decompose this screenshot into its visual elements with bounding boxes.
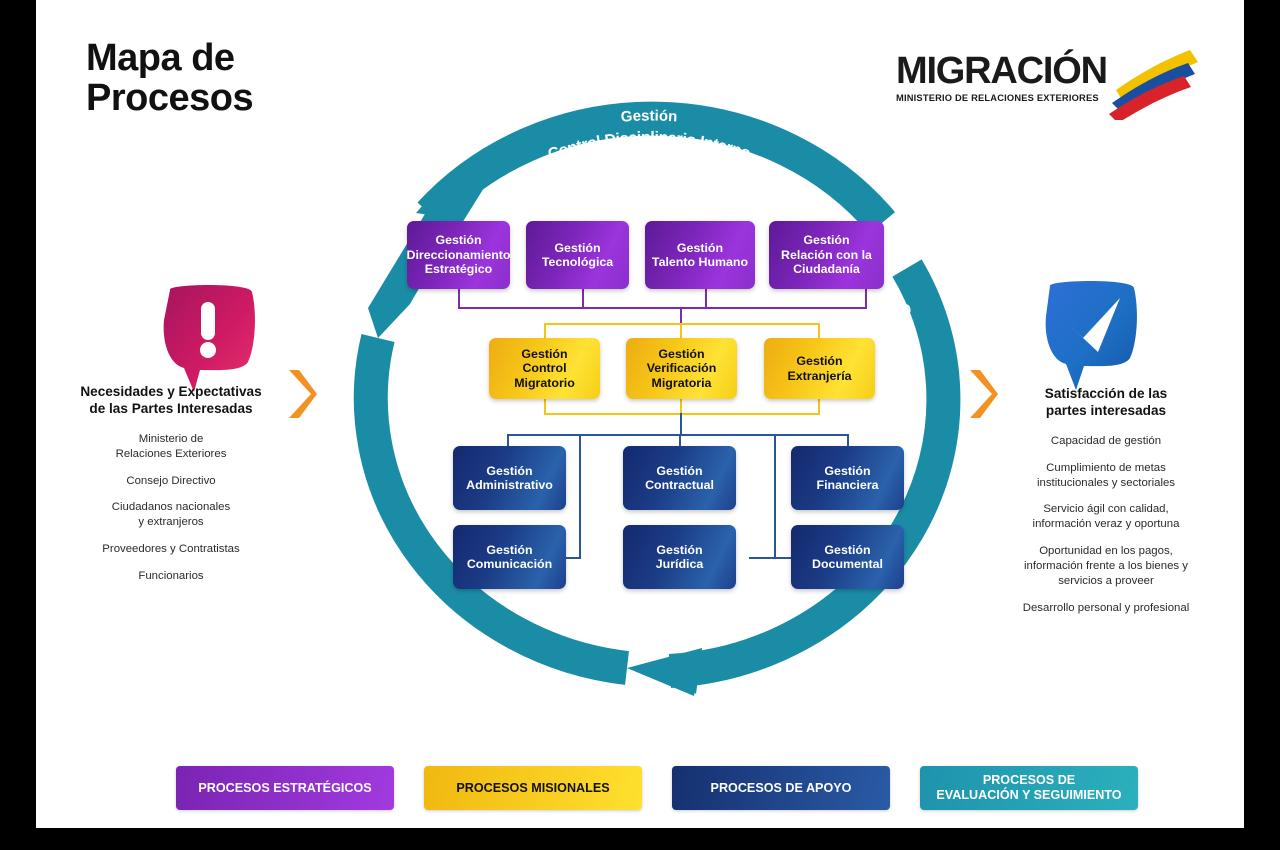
connector-support-side-right	[774, 434, 776, 558]
process-box-control-migratorio[interactable]: Gestión Control Migratorio	[489, 338, 600, 399]
connector-strategic-stem	[680, 307, 682, 324]
list-item: Ministerio de Relaciones Exteriores	[56, 432, 286, 462]
connector-support-stem	[680, 413, 682, 435]
connector-support-bus	[507, 434, 849, 436]
process-box-label: Gestión Tecnológica	[537, 241, 618, 270]
connector-support-drop-2	[679, 434, 681, 446]
connector-support-drop-3	[847, 434, 849, 446]
inputs-heading-line1: Necesidades y Expectativas	[56, 384, 286, 401]
process-box-label: Gestión Documental	[807, 543, 888, 572]
process-box-label: Gestión Extranjería	[782, 354, 856, 383]
connector-mission-out-3	[818, 398, 820, 414]
process-box-talento-humano[interactable]: Gestión Talento Humano	[645, 221, 755, 289]
process-box-juridica[interactable]: Gestión Jurídica	[623, 525, 736, 589]
outputs-list: Capacidad de gestión Cumplimiento de met…	[978, 434, 1234, 627]
outputs-heading-line2: partes interesadas	[986, 403, 1226, 420]
colombia-flag-icon	[1106, 46, 1202, 120]
process-box-label: Gestión Direccionamiento Estratégico	[402, 233, 516, 276]
list-item: Capacidad de gestión	[978, 434, 1234, 449]
process-box-label: Gestión Contractual	[640, 464, 719, 493]
svg-text:Gestión: Gestión	[620, 107, 678, 125]
legend: PROCESOS ESTRATÉGICOS PROCESOS MISIONALE…	[176, 766, 1136, 812]
inputs-heading-line2: de las Partes Interesadas	[56, 401, 286, 418]
list-item: Funcionarios	[56, 569, 286, 584]
page-title-line1: Mapa de	[86, 38, 253, 78]
legend-item-evaluacion[interactable]: PROCESOS DE EVALUACIÓN Y SEGUIMIENTO	[920, 766, 1138, 810]
list-item: Servicio ágil con calidad, información v…	[978, 502, 1234, 532]
process-box-tecnologica[interactable]: Gestión Tecnológica	[526, 221, 629, 289]
process-box-direccionamiento-estrategico[interactable]: Gestión Direccionamiento Estratégico	[407, 221, 510, 289]
legend-item-apoyo[interactable]: PROCESOS DE APOYO	[672, 766, 890, 810]
legend-item-estrategicos[interactable]: PROCESOS ESTRATÉGICOS	[176, 766, 394, 810]
connector-support-drop-1	[507, 434, 509, 446]
connector-mission-out-bus	[544, 413, 820, 415]
connector-support-link-right	[749, 557, 795, 559]
list-item: Oportunidad en los pagos, información fr…	[978, 544, 1234, 588]
outputs-heading: Satisfacción de las partes interesadas	[986, 386, 1226, 420]
exclamation-bubble-icon	[154, 280, 264, 398]
connector-strategic-bus	[458, 307, 867, 309]
list-item: Proveedores y Contratistas	[56, 542, 286, 557]
process-box-label: Gestión Comunicación	[462, 543, 557, 572]
connector-mission-out-2	[680, 398, 682, 414]
process-box-documental[interactable]: Gestión Documental	[791, 525, 904, 589]
connector-mission-drop-3	[818, 323, 820, 339]
connector-mission-bus	[544, 323, 820, 325]
list-item: Ciudadanos nacionales y extranjeros	[56, 500, 286, 530]
inputs-heading: Necesidades y Expectativas de las Partes…	[56, 384, 286, 418]
connector-strategic-drop-1	[458, 289, 460, 308]
process-box-relacion-ciudadania[interactable]: Gestión Relación con la Ciudadanía	[769, 221, 884, 289]
process-box-label: Gestión Administrativo	[461, 464, 558, 493]
svg-text:Gestión Mejora: Gestión Mejora	[411, 295, 455, 411]
process-box-label: Gestión Financiera	[812, 464, 884, 493]
page-title: Mapa de Procesos	[86, 38, 253, 119]
legend-label: PROCESOS DE EVALUACIÓN Y SEGUIMIENTO	[936, 773, 1121, 803]
connector-strategic-drop-4	[865, 289, 867, 308]
process-box-financiera[interactable]: Gestión Financiera	[791, 446, 904, 510]
ring-top-label-line1: Gestión	[620, 107, 678, 125]
connector-mission-drop-1	[544, 323, 546, 339]
process-box-label: Gestión Control Migratorio	[509, 347, 580, 390]
legend-item-misionales[interactable]: PROCESOS MISIONALES	[424, 766, 642, 810]
process-box-label: Gestión Jurídica	[651, 543, 709, 572]
process-box-label: Gestión Talento Humano	[647, 241, 753, 270]
process-box-label: Gestión Relación con la Ciudadanía	[776, 233, 877, 276]
process-box-extranjeria[interactable]: Gestión Extranjería	[764, 338, 875, 399]
legend-label: PROCESOS DE APOYO	[711, 781, 852, 796]
page-title-line2: Procesos	[86, 78, 253, 118]
legend-label: PROCESOS MISIONALES	[456, 781, 609, 796]
connector-strategic-drop-2	[582, 289, 584, 308]
list-item: Consejo Directivo	[56, 474, 286, 489]
list-item: Cumplimiento de metas institucionales y …	[978, 461, 1234, 491]
legend-label: PROCESOS ESTRATÉGICOS	[198, 781, 371, 796]
connector-mission-out-1	[544, 398, 546, 414]
connector-support-side-left	[579, 434, 581, 558]
process-box-label: Gestión Verificación Migratoria	[642, 347, 722, 390]
connector-mission-drop-2	[680, 323, 682, 339]
process-box-contractual[interactable]: Gestión Contractual	[623, 446, 736, 510]
outputs-heading-line1: Satisfacción de las	[986, 386, 1226, 403]
process-box-comunicacion[interactable]: Gestión Comunicación	[453, 525, 566, 589]
input-chevron-icon	[285, 368, 319, 420]
ring-left-label: Gestión Mejora	[411, 295, 455, 411]
inputs-list: Ministerio de Relaciones Exteriores Cons…	[56, 432, 286, 596]
check-bubble-icon	[1036, 276, 1148, 396]
process-box-verificacion-migratoria[interactable]: Gestión Verificación Migratoria	[626, 338, 737, 399]
process-map-canvas: Mapa de Procesos MIGRACIÓN MINISTERIO DE…	[36, 0, 1244, 828]
connector-strategic-drop-3	[705, 289, 707, 308]
process-box-administrativo[interactable]: Gestión Administrativo	[453, 446, 566, 510]
list-item: Desarrollo personal y profesional	[978, 601, 1234, 616]
